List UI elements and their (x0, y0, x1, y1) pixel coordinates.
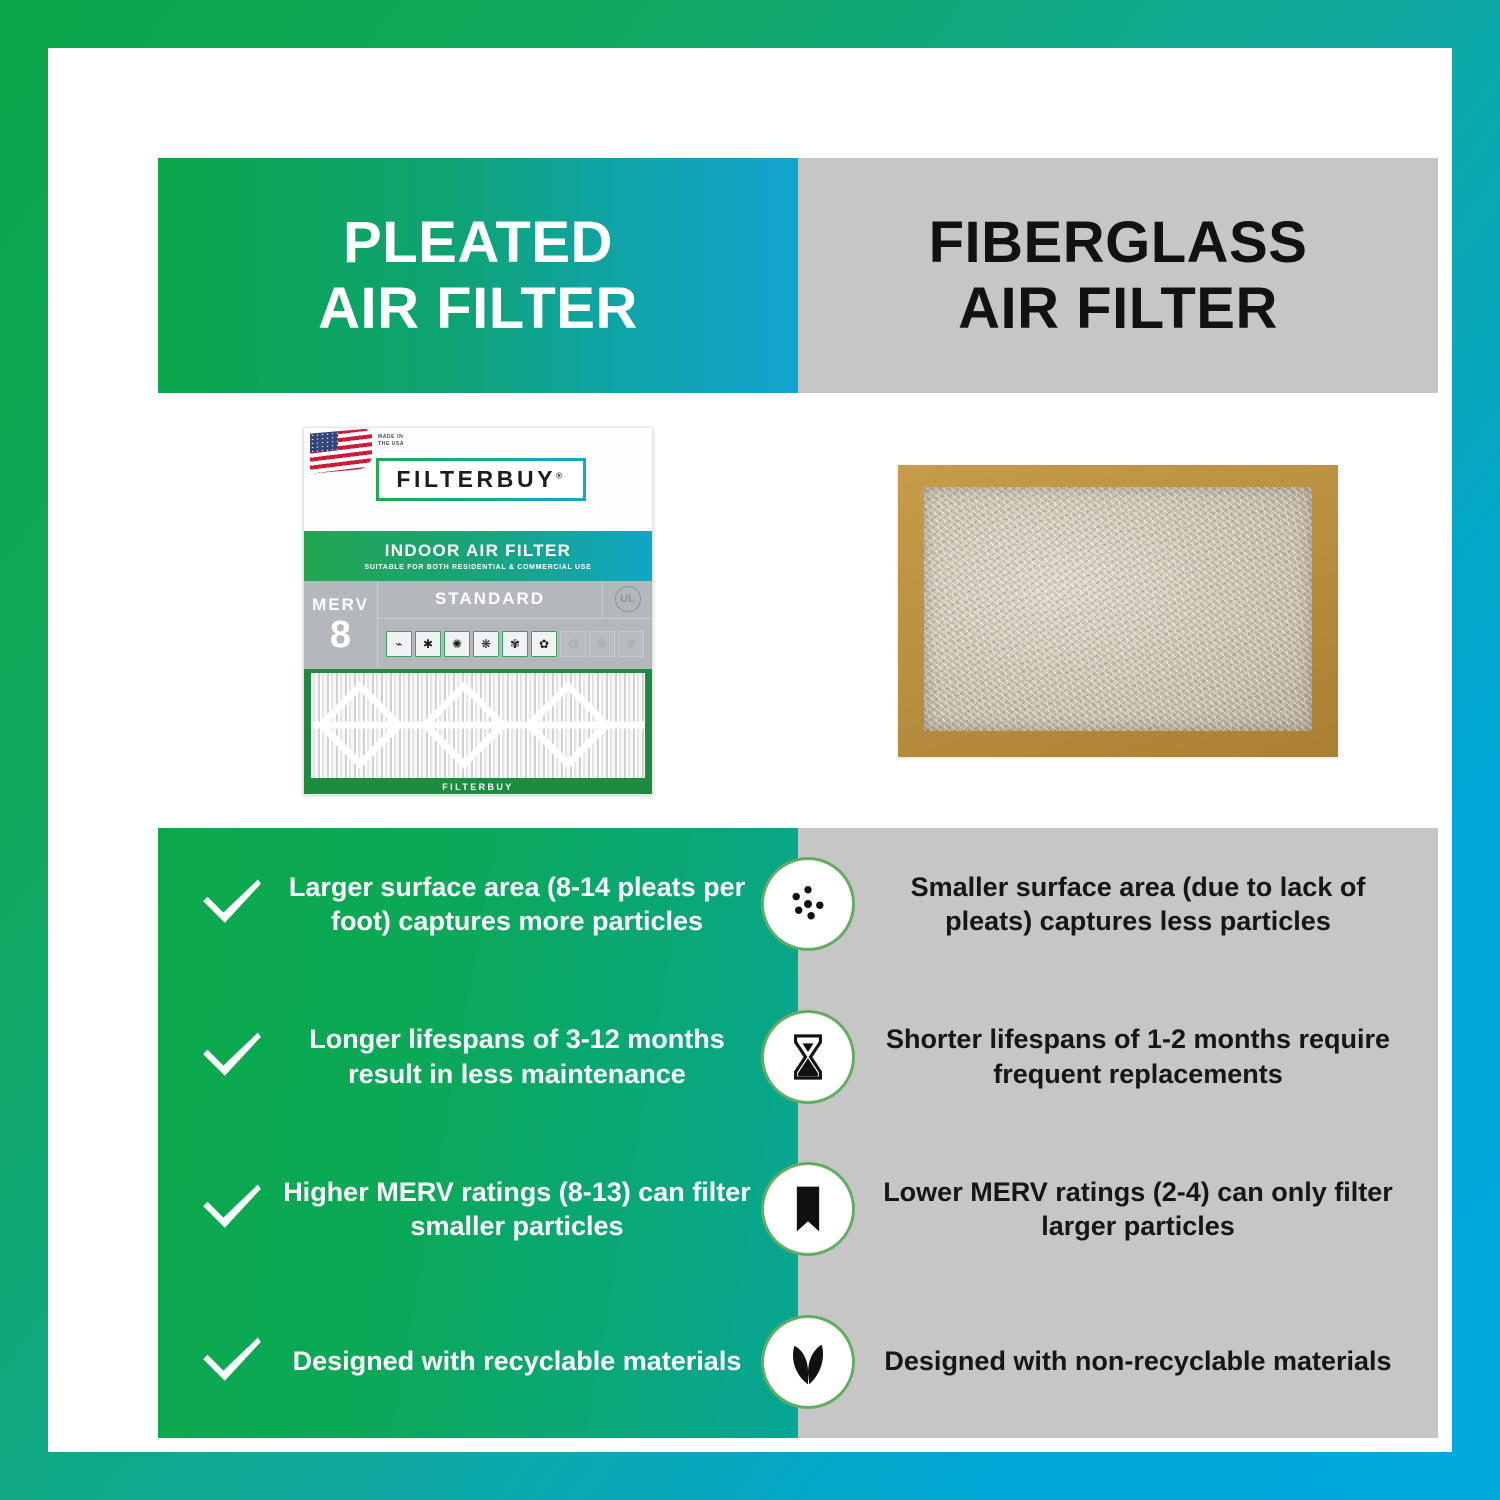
fiberglass-photo-cell (798, 393, 1438, 828)
pleated-benefit-text: Designed with recyclable materials (276, 1344, 758, 1379)
bookmark-icon (761, 1162, 855, 1256)
dust-broom-icon: ⌁ (386, 631, 412, 657)
leaf-icon (761, 1315, 855, 1409)
merv-rating-cell: MERV 8 (304, 581, 378, 669)
merv-label: MERV (312, 595, 369, 615)
support-wire-diamond (524, 681, 612, 769)
header-pleated-line1: PLEATED (318, 210, 638, 276)
bacteria-icon: ✺ (444, 631, 470, 657)
comparison-row: Designed with recyclable materialsDesign… (158, 1286, 1438, 1439)
pleated-benefit-text: Higher MERV ratings (8-13) can filter sm… (276, 1175, 758, 1244)
pleated-benefit-text: Longer lifespans of 3-12 months result i… (276, 1022, 758, 1091)
fiberglass-drawback-text: Designed with non-recyclable materials (868, 1344, 1408, 1379)
band-subtitle: SUITABLE FOR BOTH RESIDENTIAL & COMMERCI… (364, 564, 591, 571)
hourglass-icon (761, 1010, 855, 1104)
comparison-row: Larger surface area (8-14 pleats per foo… (158, 828, 1438, 981)
header-fiberglass: FIBERGLASS AIR FILTER (798, 158, 1438, 393)
header-row: PLEATED AIR FILTER FIBERGLASS AIR FILTER (158, 158, 1438, 393)
smoke-icon: ❂ (560, 631, 586, 657)
lint-icon: ✾ (502, 631, 528, 657)
band-title: INDOOR AIR FILTER (385, 541, 571, 561)
pleated-benefit-text: Larger surface area (8-14 pleats per foo… (276, 870, 758, 939)
box-footer-brand-text: FILTERBUY (442, 782, 513, 792)
checkmark-icon (188, 1021, 276, 1093)
pleated-media-window: FILTERBUY (304, 669, 652, 795)
grade-row: STANDARD UL (378, 581, 652, 619)
row-icon-wrapper (758, 1315, 858, 1409)
fiberglass-drawback-text: Lower MERV ratings (2-4) can only filter… (868, 1175, 1408, 1244)
header-pleated-title: PLEATED AIR FILTER (318, 210, 638, 341)
row-icon-wrapper (758, 1162, 858, 1256)
made-in-line1: MADE IN (378, 434, 404, 442)
virus-icon: ❄ (618, 631, 644, 657)
fiberglass-drawback-text: Shorter lifespans of 1-2 months require … (868, 1022, 1408, 1091)
ul-mark-icon: UL (615, 586, 641, 612)
dust-mite-icon: ✱ (415, 631, 441, 657)
filterbuy-product-box: MADE IN THE USA FILTERBUY® INDOOR AIR FI… (303, 427, 653, 795)
comparison-block: Larger surface area (8-14 pleats per foo… (158, 828, 1438, 1438)
support-wire-diamond (420, 681, 508, 769)
row-icon-wrapper (758, 857, 858, 951)
mold-icon: ❋ (473, 631, 499, 657)
white-mat: PLEATED AIR FILTER FIBERGLASS AIR FILTER (48, 48, 1452, 1452)
header-fiberglass-title: FIBERGLASS AIR FILTER (929, 210, 1308, 341)
pet-dander-icon: ✿ (531, 631, 557, 657)
ul-certification-badge: UL (602, 581, 652, 618)
box-specs-panel: MERV 8 STANDARD UL ⌁✱✺❋✾✿❂❃❄ (304, 581, 652, 669)
row-icon-wrapper (758, 1010, 858, 1104)
capability-icon-row: ⌁✱✺❋✾✿❂❃❄ (378, 619, 652, 669)
product-photo-row: MADE IN THE USA FILTERBUY® INDOOR AIR FI… (158, 393, 1438, 828)
header-pleated-line2: AIR FILTER (318, 276, 638, 342)
made-in-line2: THE USA (378, 441, 404, 449)
comparison-row: Longer lifespans of 3-12 months result i… (158, 981, 1438, 1134)
made-in-usa-label: MADE IN THE USA (378, 434, 404, 449)
fiberglass-drawback-text: Smaller surface area (due to lack of ple… (868, 870, 1408, 939)
checkmark-icon (188, 868, 276, 940)
checkmark-icon (188, 1326, 276, 1398)
trademark-symbol: ® (556, 471, 566, 480)
fiberglass-media-texture (924, 487, 1312, 731)
gradient-border-frame: PLEATED AIR FILTER FIBERGLASS AIR FILTER (0, 0, 1500, 1500)
box-top-panel: MADE IN THE USA FILTERBUY® (304, 428, 652, 531)
filterbuy-logo-text: FILTERBUY® (396, 466, 565, 493)
checkmark-icon (188, 1173, 276, 1245)
merv-value: 8 (330, 617, 351, 653)
comparison-row: Higher MERV ratings (8-13) can filter sm… (158, 1133, 1438, 1286)
support-wire-diamond (316, 681, 404, 769)
grade-label: STANDARD (378, 589, 602, 609)
comparison-rows: Larger surface area (8-14 pleats per foo… (158, 828, 1438, 1438)
usa-flag-icon (310, 428, 372, 473)
header-pleated: PLEATED AIR FILTER (158, 158, 798, 393)
fiberglass-filter-image (898, 465, 1338, 757)
bacteria-small-icon: ❃ (589, 631, 615, 657)
particles-icon (761, 857, 855, 951)
indoor-air-filter-band: INDOOR AIR FILTER SUITABLE FOR BOTH RESI… (304, 531, 652, 581)
header-fiberglass-line2: AIR FILTER (929, 276, 1308, 342)
pleat-texture (311, 673, 645, 778)
pleated-photo-cell: MADE IN THE USA FILTERBUY® INDOOR AIR FI… (158, 393, 798, 828)
comparison-infographic: PLEATED AIR FILTER FIBERGLASS AIR FILTER (158, 158, 1438, 1438)
box-footer-brand: FILTERBUY (304, 778, 652, 795)
box-specs-right: STANDARD UL ⌁✱✺❋✾✿❂❃❄ (378, 581, 652, 669)
header-fiberglass-line1: FIBERGLASS (929, 210, 1308, 276)
filterbuy-logo: FILTERBUY® (376, 458, 586, 501)
